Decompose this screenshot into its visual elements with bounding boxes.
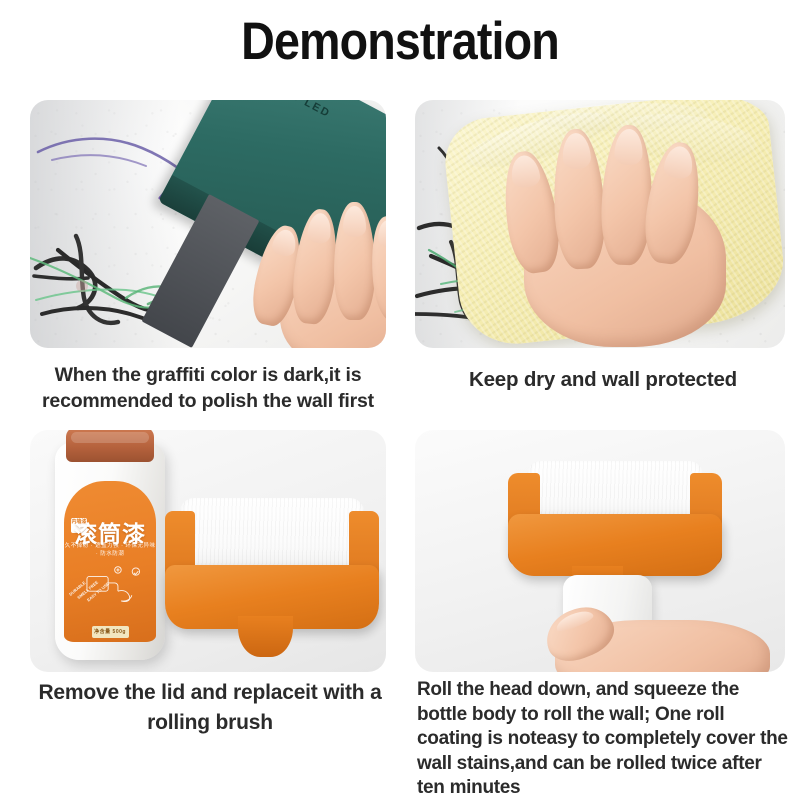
fingernail [376, 219, 386, 248]
fingernail [663, 145, 695, 180]
bottle-label: 内墙漆 滚筒漆 久不掉粉 · 遮盖力强 · 环保无异味 · 防水防潮 [64, 481, 157, 642]
photo-polish-wall: QETAOUC LED [30, 100, 386, 348]
fingernail [561, 133, 591, 171]
roller-brush-head [165, 498, 379, 658]
photo-wipe-wall [415, 100, 785, 348]
panel-polish-wall: QETAOUC LED [30, 100, 386, 348]
fingernail [306, 212, 332, 244]
roller-neck [238, 616, 294, 658]
fingernail [509, 154, 541, 189]
thumbnail [554, 608, 594, 634]
photo-roller-on-bottle [415, 430, 785, 672]
panel-roll-wall [415, 430, 785, 672]
demonstration-page: Demonstration [0, 0, 800, 800]
hand-holding-block [251, 199, 386, 348]
caption-polish-wall: When the graffiti color is dark,it is re… [10, 362, 406, 414]
page-title: Demonstration [48, 14, 752, 70]
hand-wiping [496, 125, 725, 343]
caption-wipe-wall: Keep dry and wall protected [408, 366, 798, 393]
fingernail [271, 228, 299, 259]
hand-gripping-bottle [541, 604, 770, 672]
fingernail [614, 128, 643, 165]
bottle-cap [66, 430, 154, 462]
label-weight: 净含量 500g [92, 626, 129, 637]
fingernail [343, 206, 366, 237]
label-illustration: DURABLE SMELL FREE EASY TO USE [69, 554, 151, 615]
roller-brush-head [508, 461, 723, 592]
panel-replace-lid: 内墙漆 滚筒漆 久不掉粉 · 遮盖力强 · 环保无异味 · 防水防潮 [30, 430, 386, 672]
panel-wipe-wall [415, 100, 785, 348]
caption-replace-lid: Remove the lid and replaceit with a roll… [14, 678, 406, 738]
photo-bottle-and-roller: 内墙漆 滚筒漆 久不掉粉 · 遮盖力强 · 环保无异味 · 防水防潮 [30, 430, 386, 672]
caption-roll-wall: Roll the head down, and squeeze the bott… [417, 678, 789, 801]
paint-bottle: 内墙漆 滚筒漆 久不掉粉 · 遮盖力强 · 环保无异味 · 防水防潮 [55, 442, 165, 660]
